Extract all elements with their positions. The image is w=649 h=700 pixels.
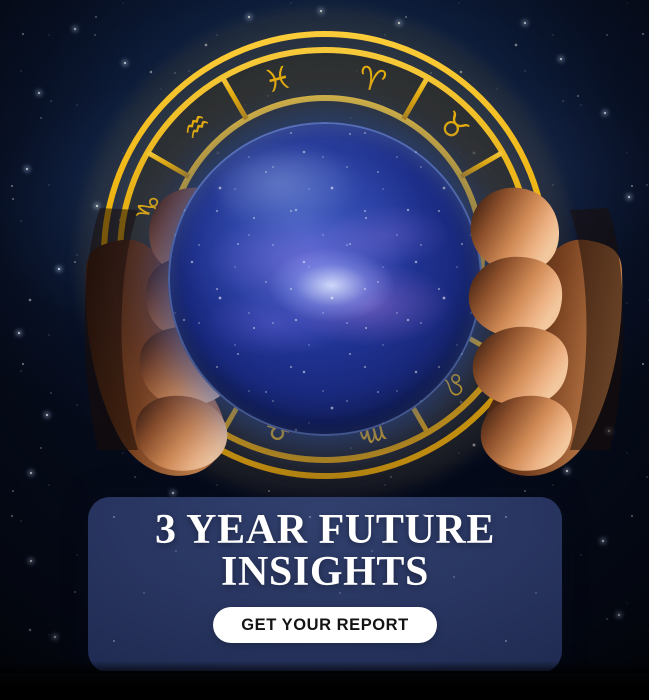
- crystal-ball: [168, 122, 482, 436]
- promo-card: 3 YEAR FUTURE INSIGHTS GET YOUR REPORT: [88, 497, 562, 673]
- right-hand-finger-3: [473, 327, 568, 406]
- right-hand: [440, 150, 630, 480]
- ball-rim: [168, 122, 482, 436]
- promo-banner: ♈♉♊♋♌♍♎♏♐♑♒♓: [0, 0, 649, 700]
- right-hand-finger-2: [469, 257, 562, 338]
- bottom-band: [0, 671, 649, 700]
- page-title: 3 YEAR FUTURE INSIGHTS: [155, 510, 495, 593]
- headline-line-2: INSIGHTS: [155, 552, 495, 594]
- get-your-report-button[interactable]: GET YOUR REPORT: [213, 607, 437, 643]
- headline-line-1: 3 YEAR FUTURE: [155, 510, 495, 552]
